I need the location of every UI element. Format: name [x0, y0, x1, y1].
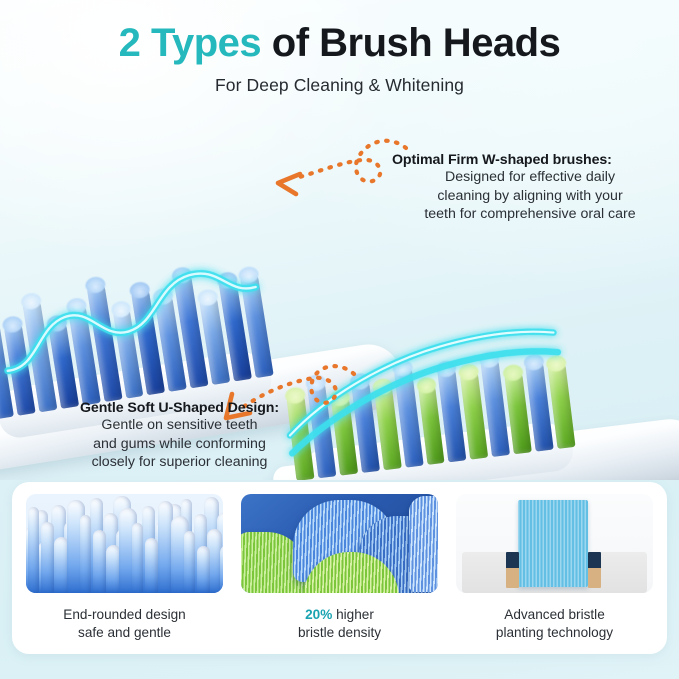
annotation-line-3: closely for superior cleaning	[42, 453, 317, 472]
annotation-title: Gentle Soft U-Shaped Design:	[42, 400, 317, 416]
title-accent: 2 Types	[119, 21, 262, 65]
annotation-line-2: cleaning by aligning with your	[390, 187, 670, 206]
subtitle: For Deep Cleaning & Whitening	[0, 75, 679, 96]
dense-bristle-tufts-photo	[241, 494, 438, 593]
caption-line-2: bristle density	[241, 624, 438, 642]
feature-caption: End-rounded design safe and gentle	[26, 606, 223, 642]
caption-line-1: End-rounded design	[26, 606, 223, 624]
annotation-line-1: Designed for effective daily	[390, 168, 670, 187]
annotation-firm-w-shaped: Optimal Firm W-shaped brushes: Designed …	[390, 152, 670, 224]
bristle-tuft-cluster	[409, 496, 438, 592]
feature-caption: Advanced bristle planting technology	[456, 606, 653, 642]
header: 2 Types of Brush Heads For Deep Cleaning…	[0, 22, 679, 96]
anchor-staple	[506, 552, 519, 588]
bristle-planting-diagram-photo	[456, 494, 653, 593]
bristle-rod	[220, 544, 223, 593]
page-title: 2 Types of Brush Heads	[0, 22, 679, 64]
feature-panel-end-rounded: End-rounded design safe and gentle	[26, 494, 223, 642]
caption-line-2: safe and gentle	[26, 624, 223, 642]
feature-panel-planting-technology: Advanced bristle planting technology	[456, 494, 653, 642]
caption-line-1: Advanced bristle	[456, 606, 653, 624]
bristle-rod	[184, 531, 195, 593]
annotation-line-1: Gentle on sensitive teeth	[42, 416, 317, 435]
feature-panel-bristle-density: 20% higher bristle density	[241, 494, 438, 642]
infographic-canvas: 2 Types of Brush Heads For Deep Cleaning…	[0, 0, 679, 679]
anchor-staple	[588, 552, 601, 588]
bristle-rod	[132, 523, 143, 593]
bristle-rod	[80, 515, 91, 593]
caption-line-1-rest: higher	[332, 607, 374, 622]
bristle-rod	[41, 522, 54, 593]
annotation-soft-u-shaped: Gentle Soft U-Shaped Design: Gentle on s…	[42, 400, 317, 472]
bristle-rod	[28, 507, 39, 593]
bristle-rod	[145, 538, 158, 593]
planted-bristle-tuft	[518, 500, 588, 587]
feature-card: End-rounded design safe and gentle 20% h…	[12, 482, 667, 654]
annotation-line-2: and gums while conforming	[42, 435, 317, 454]
annotation-line-3: teeth for comprehensive oral care	[390, 205, 670, 224]
caption-line-1: 20% higher	[241, 606, 438, 624]
density-percent: 20%	[305, 607, 332, 622]
caption-line-2: planting technology	[456, 624, 653, 642]
title-rest: of Brush Heads	[261, 21, 560, 65]
bristle-rod	[93, 530, 106, 593]
end-rounded-bristles-photo	[26, 494, 223, 593]
annotation-title: Optimal Firm W-shaped brushes:	[392, 152, 670, 168]
feature-caption: 20% higher bristle density	[241, 606, 438, 642]
bristle-rod	[197, 546, 210, 593]
